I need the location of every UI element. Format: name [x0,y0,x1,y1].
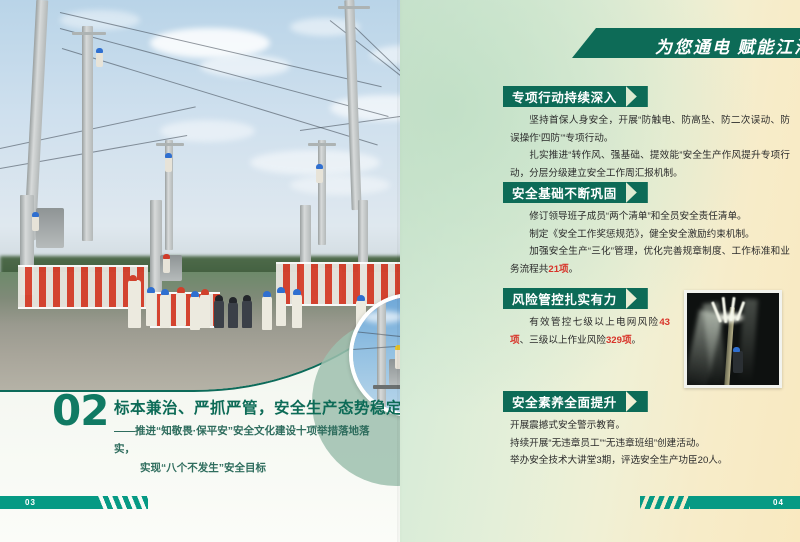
pole-crossarm [308,143,336,146]
worker-person [276,292,286,326]
section-subtitle: ——推进“知敬畏·保平安”安全文化建设十项举措落地落实， 实现“八个不发生”安全… [114,422,382,477]
pole-crossarm [373,385,400,389]
visitor-person [214,300,224,328]
section-2-paragraph-2: 制定《安全工作奖惩规范》，健全安全激励约束机制。 [510,226,790,244]
worker-person [146,292,156,326]
right-page-footer: 04 [640,496,800,509]
spark-glow [719,313,743,322]
section-badge-1-label: 专项行动持续深入 [503,87,626,106]
section-badge-1: 专项行动持续深入 [503,86,626,107]
section-4-paragraph-2: 持续开展“无违章员工”“无违章班组”创建活动。 [510,435,760,453]
worker-person [262,296,272,330]
night-worker [733,351,743,373]
section-1-paragraph-1: 坚持首保人身安全，开展“防触电、防高坠、防二次误动、防误操作‘四防’”专项行动。 [510,112,790,147]
cloud [160,120,255,142]
brochure-spread: 02 标本兼治、严抓严管，安全生产态势稳定 ——推进“知敬畏·保平安”安全文化建… [0,0,800,542]
visitor-person [228,302,238,328]
footer-stripes [640,496,690,509]
pole-worker [32,216,39,231]
utility-pole [82,26,93,241]
section-4-body: 开展震撼式安全警示教育。 持续开展“无违章员工”“无违章班组”创建活动。 举办安… [510,417,760,470]
section-1-paragraph-2: 扎实推进“转作风、强基础、提效能”安全生产作风提升专项行动，分层分级建立安全工作… [510,147,790,182]
night-operation-photo [684,290,782,388]
pole-worker [163,258,170,273]
section-2-body: 修订领导班子成员“两个清单”和全员安全责任清单。 制定《安全工作奖惩规范》，健全… [510,208,790,279]
worker-person [128,280,141,328]
worker-person [200,294,210,328]
pole-crossarm [338,6,370,9]
section-3-body: 有效管控七级以上电网风险43项、三级以上作业风险329项。 [510,314,670,349]
cloud [250,150,380,175]
section-badge-2-label: 安全基础不断巩固 [503,183,626,202]
section-subtitle-line2: 实现“八个不发生”安全目标 [140,459,382,477]
pole-worker [316,168,323,183]
section-badge-4-label: 安全素养全面提升 [503,392,626,411]
section-title: 标本兼治、严抓严管，安全生产态势稳定 [114,396,400,418]
left-page: 02 标本兼治、严抓严管，安全生产态势稳定 ——推进“知敬畏·保平安”安全文化建… [0,0,400,542]
pole-worker [165,157,172,172]
left-page-footer: 03 [0,496,160,509]
section-number: 02 [52,390,108,432]
worker-person [190,296,200,330]
transformer [36,208,64,248]
section-badge-2: 安全基础不断巩固 [503,182,626,203]
footer-stripes [98,496,148,509]
pole-worker [96,52,103,67]
pole-crossarm [72,32,106,35]
utility-pole [318,140,326,245]
visitor-person [242,300,252,328]
main-photo [0,0,400,392]
page-number: 03 [25,496,36,509]
cloud [200,55,290,77]
section-badge-3-label: 风险管控扎实有力 [503,289,626,308]
section-1-body: 坚持首保人身安全，开展“防触电、防高坠、防二次误动、防误操作‘四防’”专项行动。… [510,112,790,183]
section-3-paragraph-1: 有效管控七级以上电网风险43项、三级以上作业风险329项。 [510,314,670,349]
cloud [150,28,270,58]
section-2-paragraph-3: 加强安全生产“三化”管理，优化完善规章制度、工作标准和业务流程共21项。 [510,243,790,278]
section-4-paragraph-3: 举办安全技术大讲堂3期，评选安全生产功臣20人。 [510,452,760,470]
cloud [290,175,390,195]
section-2-paragraph-1: 修订领导班子成员“两个清单”和全员安全责任清单。 [510,208,790,226]
worker-person [160,294,170,328]
section-4-paragraph-1: 开展震撼式安全警示教育。 [510,417,760,435]
section-subtitle-line1: ——推进“知敬畏·保平安”安全文化建设十项举措落地落实， [114,425,370,455]
page-number: 04 [773,496,784,509]
worker-person [292,294,302,328]
footer-bar [0,496,98,509]
pole-crossarm [156,143,184,146]
worker-person [176,292,186,326]
section-badge-3: 风险管控扎实有力 [503,288,626,309]
header-banner-text: 为您通电 赋能江海 [655,33,800,58]
section-badge-4: 安全素养全面提升 [503,391,626,412]
